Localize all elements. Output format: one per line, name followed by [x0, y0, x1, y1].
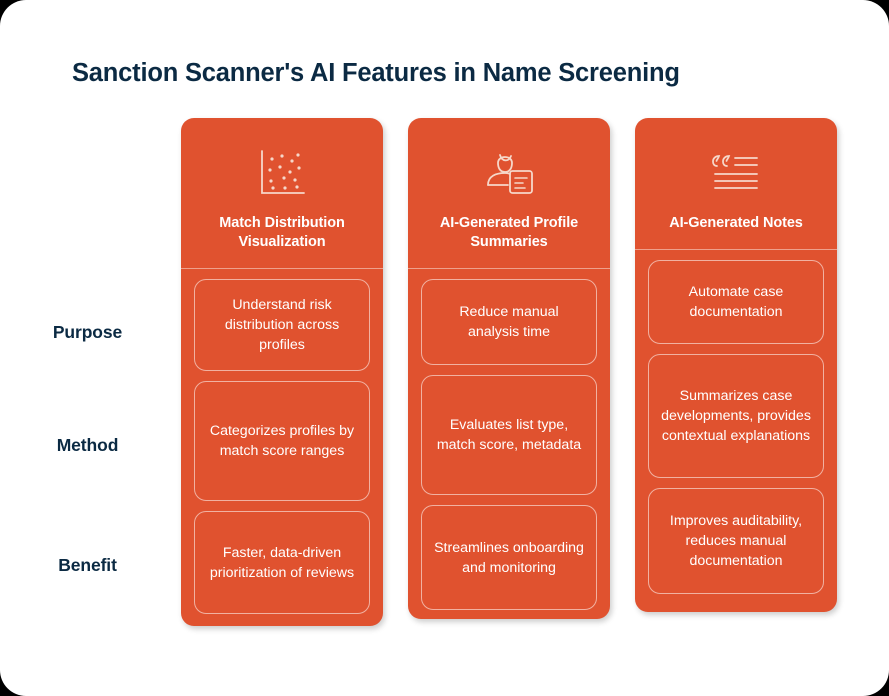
- cell-method: Summarizes case developments, provides c…: [648, 354, 824, 478]
- feature-card-match-distribution-visualization[interactable]: Match Distribution Visualization Underst…: [181, 118, 383, 626]
- card-cells: Understand risk distribution across prof…: [181, 269, 383, 626]
- page-title: Sanction Scanner's AI Features in Name S…: [72, 58, 832, 89]
- cell-purpose: Understand risk distribution across prof…: [194, 279, 370, 371]
- feature-card-ai-generated-notes[interactable]: AI-Generated Notes Automate case documen…: [635, 118, 837, 612]
- feature-cards: Match Distribution Visualization Underst…: [175, 118, 889, 638]
- cell-purpose: Automate case documentation: [648, 260, 824, 344]
- card-title: AI-Generated Notes: [649, 214, 823, 233]
- row-label-method: Method: [0, 435, 175, 456]
- cell-benefit: Streamlines onboarding and monitoring: [421, 505, 597, 610]
- card-header: Match Distribution Visualization: [181, 118, 383, 269]
- feature-card-ai-generated-profile-summaries[interactable]: AI-Generated Profile Summaries Reduce ma…: [408, 118, 610, 619]
- scatter-plot-icon: [195, 142, 369, 204]
- card-header: AI-Generated Notes: [635, 118, 837, 250]
- card-cells: Reduce manual analysis time Evaluates li…: [408, 269, 610, 622]
- cell-purpose: Reduce manual analysis time: [421, 279, 597, 365]
- cell-benefit: Faster, data-driven prioritization of re…: [194, 511, 370, 614]
- card-header: AI-Generated Profile Summaries: [408, 118, 610, 269]
- row-label-benefit: Benefit: [0, 555, 175, 576]
- cell-method: Evaluates list type, match score, metada…: [421, 375, 597, 495]
- row-label-column: Purpose Method Benefit: [0, 118, 175, 638]
- card-title: AI-Generated Profile Summaries: [422, 214, 596, 252]
- card-cells: Automate case documentation Summarizes c…: [635, 250, 837, 606]
- quote-notes-icon: [649, 142, 823, 204]
- person-profile-document-icon: [422, 142, 596, 204]
- infographic-page: Sanction Scanner's AI Features in Name S…: [0, 0, 889, 696]
- row-label-purpose: Purpose: [0, 322, 175, 343]
- comparison-grid: Purpose Method Benefit: [0, 118, 889, 638]
- card-title: Match Distribution Visualization: [195, 214, 369, 252]
- cell-method: Categorizes profiles by match score rang…: [194, 381, 370, 501]
- cell-benefit: Improves auditability, reduces manual do…: [648, 488, 824, 594]
